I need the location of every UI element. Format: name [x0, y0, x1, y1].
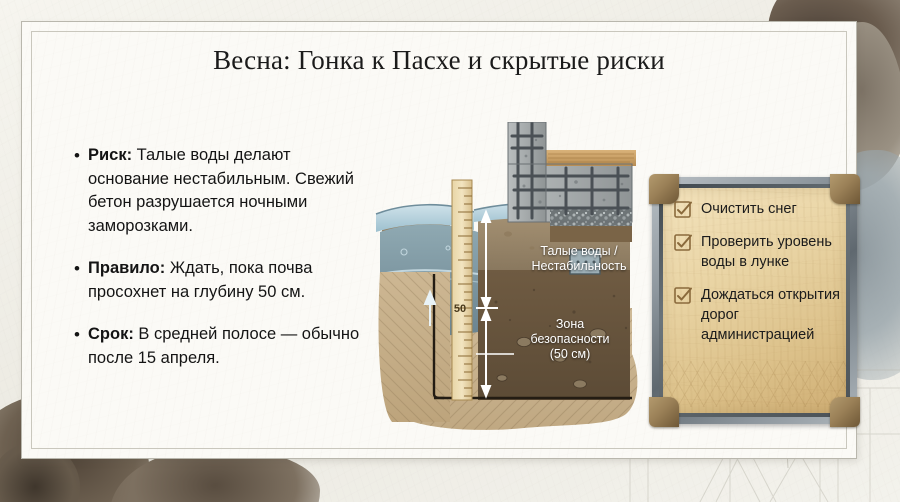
illustration-label-safe-zone: Зонабезопасности(50 см): [511, 317, 629, 362]
list-item: • Срок: В средней полосе — обычно после …: [74, 323, 374, 370]
illustration-label-water: Талые воды /Нестабильность: [518, 244, 640, 274]
bullet-dot-icon: •: [74, 144, 88, 238]
checklist-items: Очистить снег Проверить уровень воды в л…: [674, 199, 841, 358]
checklist-item-label: Дождаться открытия дорог администрацией: [701, 285, 841, 345]
list-item[interactable]: Проверить уровень воды в лунке: [674, 232, 841, 272]
checkbox-checked-icon[interactable]: [674, 234, 693, 251]
bullet-list: • Риск: Талые воды делают основание нест…: [74, 144, 374, 389]
slide-card: Весна: Гонка к Пасхе и скрытые риски • Р…: [22, 22, 856, 458]
list-item: • Риск: Талые воды делают основание нест…: [74, 144, 374, 238]
list-item[interactable]: Очистить снег: [674, 199, 841, 219]
bullet-text: Риск: Талые воды делают основание нестаб…: [88, 144, 374, 238]
foundation-diagram-svg: 50: [374, 122, 646, 442]
bullet-text: Срок: В средней полосе — обычно после 15…: [88, 323, 374, 370]
board-chevron-texture: [663, 361, 846, 407]
board-corner-bracket-bottom-left: [649, 397, 679, 427]
checklist-item-label: Проверить уровень воды в лунке: [701, 232, 841, 272]
bullet-lead-label: Риск:: [88, 146, 132, 164]
foundation-cross-section-illustration: 50: [374, 122, 646, 442]
trench-left-wall-hatch: [379, 272, 451, 422]
checklist-item-label: Очистить снег: [701, 199, 797, 219]
list-item: • Правило: Ждать, пока почва просохнет н…: [74, 257, 374, 304]
subsoil-under-footing: [550, 226, 632, 242]
bullet-dot-icon: •: [74, 323, 88, 370]
measuring-ruler: [452, 180, 472, 400]
bullet-lead-label: Правило:: [88, 259, 165, 277]
checkbox-checked-icon[interactable]: [674, 287, 693, 304]
board-corner-bracket-bottom-right: [830, 397, 860, 427]
bullet-lead-label: Срок:: [88, 325, 134, 343]
checklist-board: Очистить снег Проверить уровень воды в л…: [652, 177, 857, 424]
checkbox-checked-icon[interactable]: [674, 201, 693, 218]
list-item[interactable]: Дождаться открытия дорог администрацией: [674, 285, 841, 345]
slide-canvas: Весна: Гонка к Пасхе и скрытые риски • Р…: [0, 0, 900, 502]
ruler-mark-50-label: 50: [454, 303, 466, 315]
page-title: Весна: Гонка к Пасхе и скрытые риски: [22, 45, 856, 76]
bullet-dot-icon: •: [74, 257, 88, 304]
bullet-text: Правило: Ждать, пока почва просохнет на …: [88, 257, 374, 304]
